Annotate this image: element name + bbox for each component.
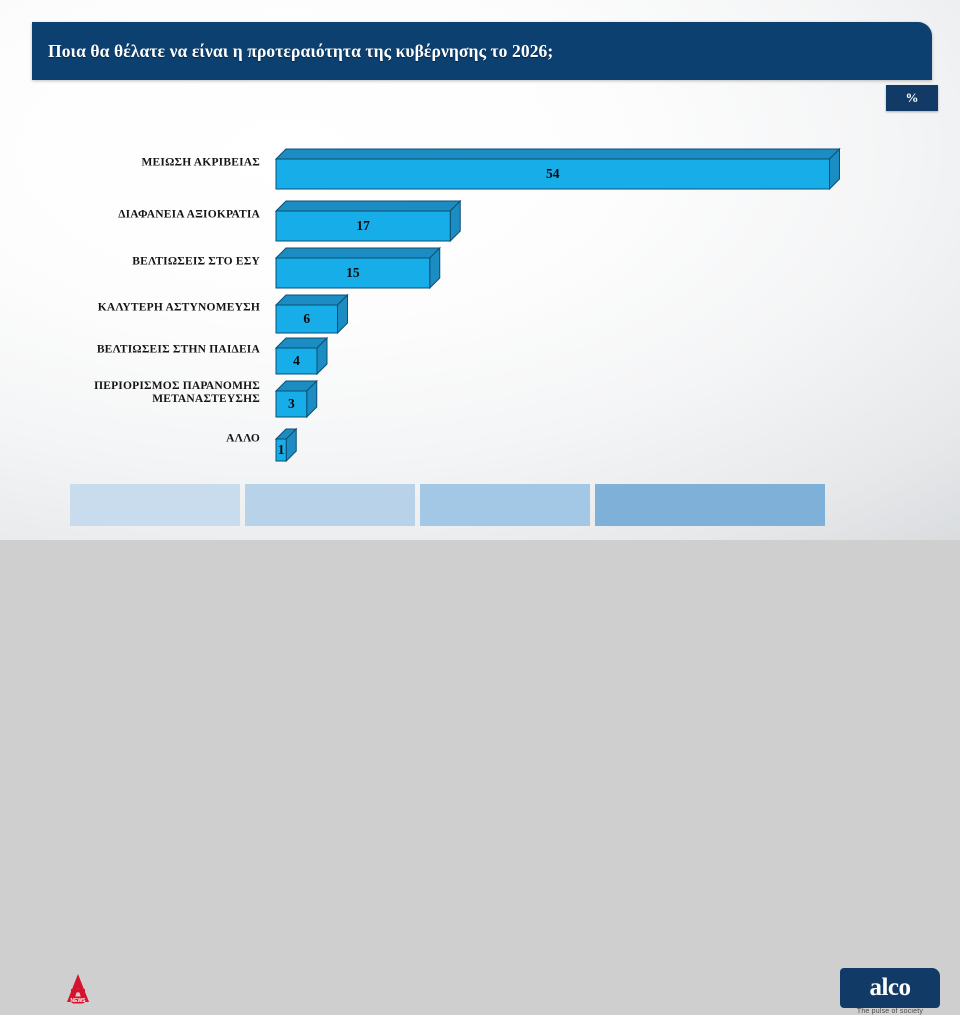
footer-bar: NEWS alco The pulse of society <box>0 484 960 540</box>
percent-symbol: % <box>906 90 919 106</box>
footer-segment-1 <box>70 484 240 526</box>
title-banner: Ποια θα θέλατε να είναι η προτεραιότητα … <box>32 22 932 80</box>
bar-category-label: ΠΕΡΙΟΡΙΣΜΟΣ ΠΑΡΑΝΟΜΗΣ ΜΕΤΑΝΑΣΤΕΥΣΗΣ <box>20 380 260 406</box>
bar-3d: 4 <box>275 337 328 375</box>
alco-logo: alco <box>840 968 940 1008</box>
page-title: Ποια θα θέλατε να είναι η προτεραιότητα … <box>48 22 922 80</box>
footer-segment-4 <box>595 484 825 526</box>
bar-3d: 54 <box>275 148 841 190</box>
percent-axis-badge: % <box>886 85 938 111</box>
footer-segment-3 <box>420 484 590 526</box>
bar-category-label: ΒΕΛΤΙΩΣΕΙΣ ΣΤΟ ΕΣΥ <box>20 256 260 269</box>
bar-chart: ΜΕΙΩΣΗ ΑΚΡΙΒΕΙΑΣ54ΔΙΑΦΑΝΕΙΑ ΑΞΙΟΚΡΑΤΙΑ17… <box>0 126 960 456</box>
footer-segment-2 <box>245 484 415 526</box>
svg-text:NEWS: NEWS <box>71 998 87 1004</box>
bar-category-label: ΜΕΙΩΣΗ ΑΚΡΙΒΕΙΑΣ <box>20 157 260 170</box>
alpha-news-logo-icon: NEWS <box>60 971 96 1007</box>
bar-3d: 15 <box>275 247 441 289</box>
bar-3d: 6 <box>275 294 349 334</box>
alco-logo-text: alco <box>840 968 940 1008</box>
bar-3d: 17 <box>275 200 461 242</box>
bar-3d: 3 <box>275 380 318 418</box>
slide-canvas: Ποια θα θέλατε να είναι η προτεραιότητα … <box>0 0 960 540</box>
bar-category-label: ΑΛΛΟ <box>20 433 260 446</box>
bar-category-label: ΚΑΛΥΤΕΡΗ ΑΣΤΥΝΟΜΕΥΣΗ <box>20 302 260 315</box>
bar-3d: 1 <box>275 428 297 462</box>
bar-category-label: ΔΙΑΦΑΝΕΙΑ ΑΞΙΟΚΡΑΤΙΑ <box>20 209 260 222</box>
alco-tagline: The pulse of society <box>840 1008 940 1015</box>
bar-category-label: ΒΕΛΤΙΩΣΕΙΣ ΣΤΗΝ ΠΑΙΔΕΙΑ <box>20 344 260 357</box>
